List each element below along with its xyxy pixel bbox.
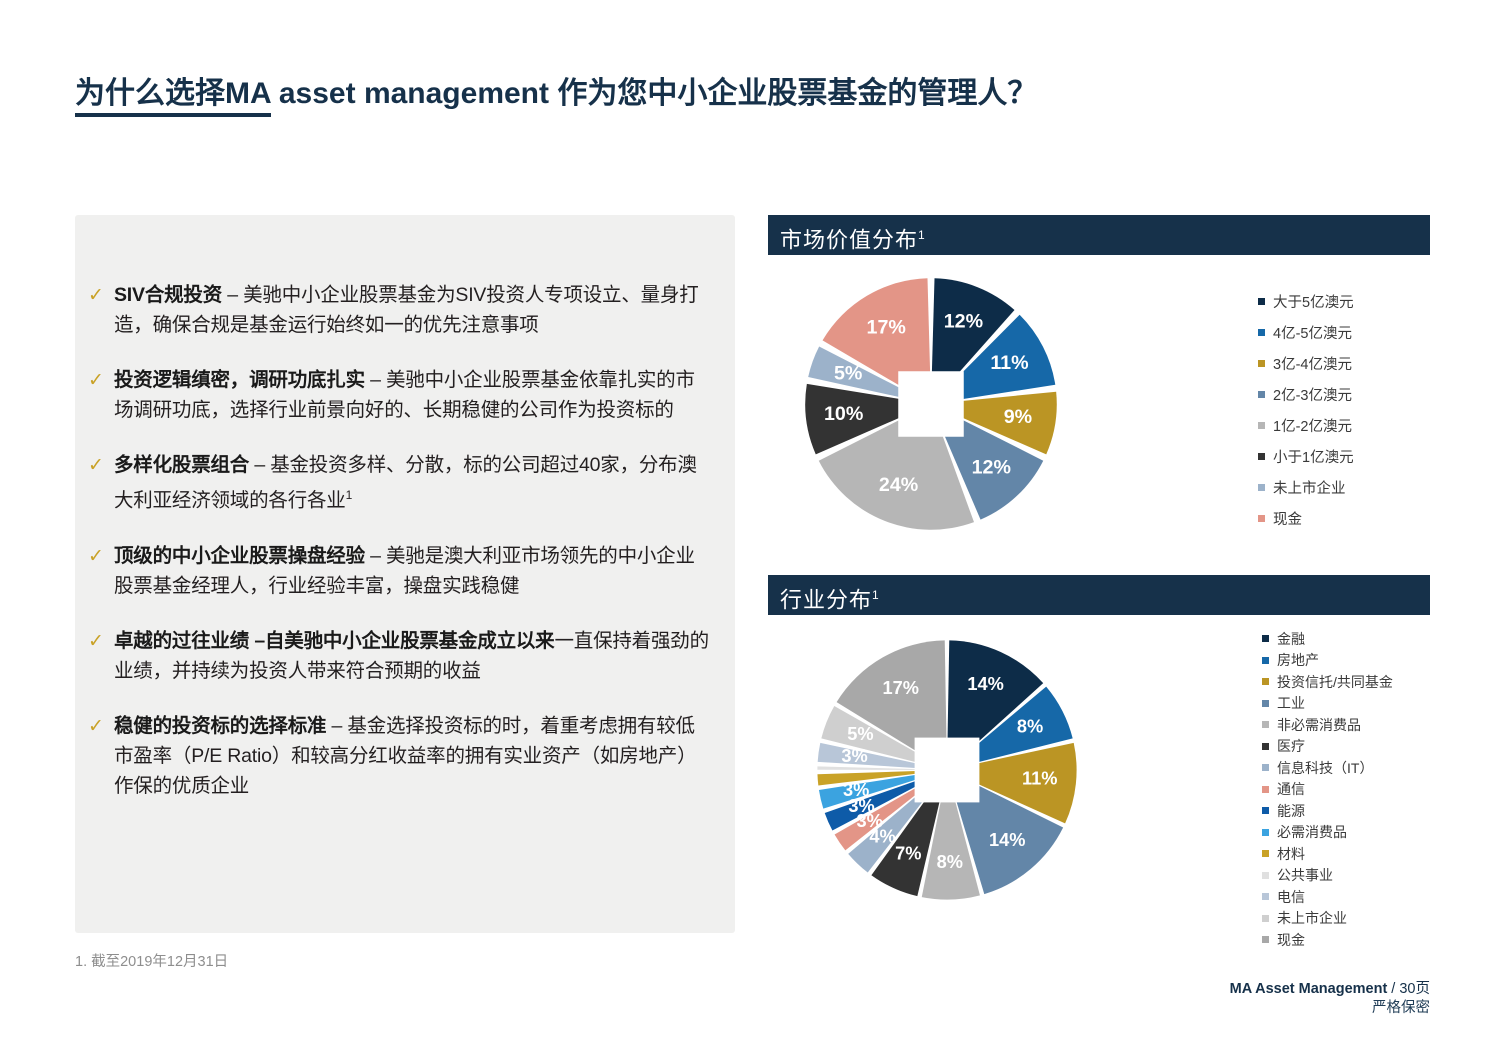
highlight-item: ✓SIV合规投资 – 美驰中小企业股票基金为SIV投资人专项设立、量身打造，确保… (88, 280, 738, 340)
highlight-item: ✓多样化股票组合 – 基金投资多样、分散，标的公司超过40家，分布澳大利亚经济领… (88, 450, 738, 516)
legend-swatch-icon (1262, 915, 1269, 922)
legend-swatch-icon (1262, 893, 1269, 900)
highlight-lead: 投资逻辑缜密，调研功底扎实 (114, 369, 365, 391)
legend-label: 投资信托/共同基金 (1277, 672, 1393, 692)
pie-slice-label: 14% (989, 830, 1025, 850)
legend-swatch-icon (1262, 721, 1269, 728)
check-icon: ✓ (88, 450, 114, 480)
pie-slice-label: 17% (883, 678, 919, 698)
legend-label: 能源 (1277, 801, 1305, 821)
legend-swatch-icon (1258, 360, 1265, 367)
highlight-text: 多样化股票组合 – 基金投资多样、分散，标的公司超过40家，分布澳大利亚经济领域… (114, 450, 714, 516)
legend-label: 房地产 (1277, 650, 1319, 670)
legend-swatch-icon (1262, 807, 1269, 814)
highlights-list: ✓SIV合规投资 – 美驰中小企业股票基金为SIV投资人专项设立、量身打造，确保… (88, 232, 738, 922)
legend-swatch-icon (1262, 678, 1269, 685)
sector-header-text: 行业分布 (780, 587, 872, 612)
market-value-pie-chart: 12%11%9%12%24%10%5%17% (800, 268, 1062, 540)
highlight-lead: 顶级的中小企业股票操盘经验 (114, 545, 365, 567)
title-underline (75, 113, 271, 117)
legend-swatch-icon (1258, 515, 1265, 522)
highlight-footnote-marker: 1 (346, 488, 352, 502)
legend-label: 4亿-5亿澳元 (1273, 322, 1352, 343)
legend-swatch-icon (1262, 850, 1269, 857)
legend-label: 电信 (1277, 887, 1305, 907)
legend-item: 房地产 (1262, 650, 1393, 672)
check-icon: ✓ (88, 711, 114, 741)
legend-label: 信息科技（IT） (1277, 758, 1373, 778)
highlight-lead: SIV合规投资 (114, 284, 222, 306)
legend-item: 金融 (1262, 628, 1393, 650)
pie-slice-label: 24% (879, 474, 918, 496)
pie-slice-label: 7% (895, 844, 921, 864)
legend-item: 信息科技（IT） (1262, 757, 1393, 779)
highlight-text: 投资逻辑缜密，调研功底扎实 – 美驰中小企业股票基金依靠扎实的市场调研功底，选择… (114, 365, 714, 425)
pie-slice-label: 3% (841, 746, 867, 766)
legend-label: 通信 (1277, 779, 1305, 799)
highlight-text: 稳健的投资标的选择标准 – 基金选择投资标的时，着重考虑拥有较低市盈率（P/E … (114, 711, 714, 801)
legend-item: 公共事业 (1262, 865, 1393, 887)
legend-swatch-icon (1262, 657, 1269, 664)
market-value-header-sup: 1 (918, 228, 926, 242)
highlight-lead: 卓越的过往业绩 –自美驰中小企业股票基金成立以来 (114, 630, 554, 652)
legend-item: 未上市企业 (1262, 908, 1393, 930)
pie-center-mask (915, 738, 980, 803)
legend-swatch-icon (1258, 298, 1265, 305)
legend-swatch-icon (1258, 484, 1265, 491)
highlight-item: ✓顶级的中小企业股票操盘经验 – 美驰是澳大利亚市场领先的中小企业股票基金经理人… (88, 541, 738, 601)
market-value-legend: 大于5亿澳元4亿-5亿澳元3亿-4亿澳元2亿-3亿澳元1亿-2亿澳元小于1亿澳元… (1258, 286, 1354, 534)
legend-item: 现金 (1258, 503, 1354, 534)
highlight-item: ✓投资逻辑缜密，调研功底扎实 – 美驰中小企业股票基金依靠扎实的市场调研功底，选… (88, 365, 738, 425)
legend-label: 1亿-2亿澳元 (1273, 415, 1352, 436)
pie-slice-label: 5% (834, 362, 862, 384)
pie-slice-label: 11% (990, 352, 1028, 374)
legend-item: 材料 (1262, 843, 1393, 865)
legend-item: 能源 (1262, 800, 1393, 822)
highlight-lead: 稳健的投资标的选择标准 (114, 715, 326, 737)
slide-footer: MA Asset Management / 30页 严格保密 (1230, 980, 1430, 1018)
pie-svg: 14%8%11%14%8%7%4%3%3%3%2%1%3%5%17% (812, 630, 1082, 910)
legend-item: 医疗 (1262, 736, 1393, 758)
check-icon: ✓ (88, 365, 114, 395)
check-icon: ✓ (88, 280, 114, 310)
legend-swatch-icon (1262, 872, 1269, 879)
legend-item: 2亿-3亿澳元 (1258, 379, 1354, 410)
legend-item: 非必需消费品 (1262, 714, 1393, 736)
legend-swatch-icon (1262, 829, 1269, 836)
market-value-header-text: 市场价值分布 (780, 227, 918, 252)
legend-label: 非必需消费品 (1277, 715, 1361, 735)
legend-swatch-icon (1258, 453, 1265, 460)
check-icon: ✓ (88, 626, 114, 656)
pie-slice-label: 10% (824, 403, 863, 425)
legend-label: 未上市企业 (1277, 908, 1347, 928)
highlight-text: 卓越的过往业绩 –自美驰中小企业股票基金成立以来一直保持着强劲的业绩，并持续为投… (114, 626, 714, 686)
pie-slice-label: 8% (937, 852, 963, 872)
pie-slice-label: 12% (972, 456, 1011, 478)
legend-item: 通信 (1262, 779, 1393, 801)
legend-label: 2亿-3亿澳元 (1273, 384, 1352, 405)
pie-slice-label: 9% (1004, 406, 1032, 428)
legend-item: 投资信托/共同基金 (1262, 671, 1393, 693)
sector-header-sup: 1 (872, 588, 880, 602)
legend-swatch-icon (1258, 422, 1265, 429)
legend-item: 小于1亿澳元 (1258, 441, 1354, 472)
legend-label: 现金 (1277, 930, 1305, 950)
slide-root: 为什么选择MA asset management 作为您中小企业股票基金的管理人… (0, 0, 1500, 1038)
legend-label: 公共事业 (1277, 865, 1333, 885)
footer-page: / 30页 (1387, 981, 1430, 997)
pie-slice-label: 8% (1017, 716, 1043, 736)
pie-slice-label: 5% (847, 724, 873, 744)
legend-label: 金融 (1277, 629, 1305, 649)
sector-pie-chart: 14%8%11%14%8%7%4%3%3%3%2%1%3%5%17% (812, 630, 1082, 910)
legend-label: 必需消费品 (1277, 822, 1347, 842)
legend-label: 3亿-4亿澳元 (1273, 353, 1352, 374)
legend-label: 材料 (1277, 844, 1305, 864)
legend-item: 1亿-2亿澳元 (1258, 410, 1354, 441)
legend-label: 医疗 (1277, 736, 1305, 756)
legend-item: 3亿-4亿澳元 (1258, 348, 1354, 379)
sector-legend: 金融房地产投资信托/共同基金工业非必需消费品医疗信息科技（IT）通信能源必需消费… (1262, 628, 1393, 951)
legend-swatch-icon (1262, 786, 1269, 793)
footnote: 1. 截至2019年12月31日 (75, 950, 228, 971)
pie-slice-label: 3% (843, 780, 869, 800)
highlight-text: SIV合规投资 – 美驰中小企业股票基金为SIV投资人专项设立、量身打造，确保合… (114, 280, 714, 340)
legend-item: 4亿-5亿澳元 (1258, 317, 1354, 348)
legend-swatch-icon (1262, 700, 1269, 707)
legend-item: 未上市企业 (1258, 472, 1354, 503)
legend-swatch-icon (1262, 764, 1269, 771)
pie-slice-label: 12% (944, 310, 983, 332)
legend-swatch-icon (1258, 391, 1265, 398)
legend-swatch-icon (1262, 936, 1269, 943)
highlight-item: ✓稳健的投资标的选择标准 – 基金选择投资标的时，着重考虑拥有较低市盈率（P/E… (88, 711, 738, 801)
pie-svg: 12%11%9%12%24%10%5%17% (800, 268, 1062, 540)
legend-item: 大于5亿澳元 (1258, 286, 1354, 317)
legend-item: 工业 (1262, 693, 1393, 715)
footer-brand: MA Asset Management (1230, 981, 1388, 997)
pie-center-mask (898, 371, 964, 437)
legend-swatch-icon (1258, 329, 1265, 336)
pie-slice-label: 17% (867, 316, 906, 338)
pie-slice-label: 11% (1022, 769, 1057, 789)
page-title: 为什么选择MA asset management 作为您中小企业股票基金的管理人… (75, 68, 1037, 112)
highlight-item: ✓卓越的过往业绩 –自美驰中小企业股票基金成立以来一直保持着强劲的业绩，并持续为… (88, 626, 738, 686)
legend-item: 电信 (1262, 886, 1393, 908)
legend-item: 必需消费品 (1262, 822, 1393, 844)
highlight-text: 顶级的中小企业股票操盘经验 – 美驰是澳大利亚市场领先的中小企业股票基金经理人，… (114, 541, 714, 601)
market-value-chart-header: 市场价值分布1 (768, 215, 1430, 255)
legend-item: 现金 (1262, 929, 1393, 951)
legend-swatch-icon (1262, 743, 1269, 750)
pie-slice-label: 14% (967, 674, 1003, 694)
check-icon: ✓ (88, 541, 114, 571)
legend-label: 小于1亿澳元 (1273, 446, 1354, 467)
highlight-lead: 多样化股票组合 (114, 454, 249, 476)
legend-label: 大于5亿澳元 (1273, 291, 1354, 312)
legend-label: 现金 (1273, 508, 1302, 529)
legend-label: 未上市企业 (1273, 477, 1346, 498)
footer-confidential: 严格保密 (1230, 999, 1430, 1018)
sector-chart-header: 行业分布1 (768, 575, 1430, 615)
legend-swatch-icon (1262, 635, 1269, 642)
legend-label: 工业 (1277, 693, 1305, 713)
